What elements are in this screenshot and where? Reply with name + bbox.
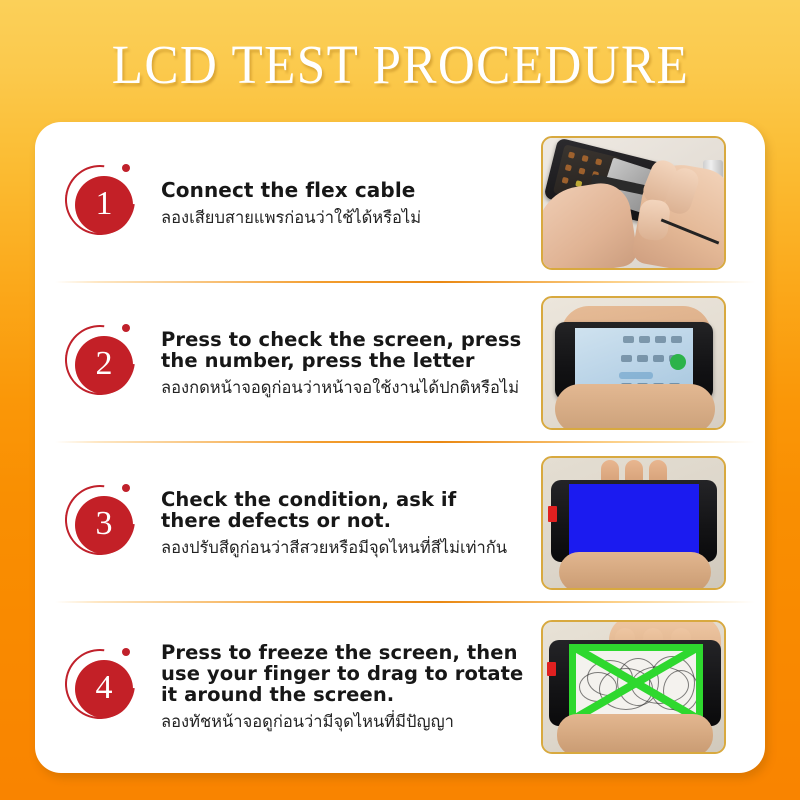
- poster-root: LCD TEST PROCEDURE 1 Connect the flex ca…: [0, 0, 800, 800]
- step-text-3: Check the condition, ask if there defect…: [161, 489, 541, 558]
- step-thai-2: ลองกดหน้าจอดูก่อนว่าหน้าจอใช้งานได้ปกติห…: [161, 377, 533, 398]
- badge-dot-icon: [122, 648, 130, 656]
- badge-circle: 2: [75, 336, 133, 394]
- badge-dot-icon: [122, 484, 130, 492]
- step-badge-2: 2: [63, 321, 147, 405]
- photo-flex-cable-connect: [541, 136, 726, 270]
- page-title: LCD TEST PROCEDURE: [111, 34, 688, 96]
- step-number-2: 2: [96, 347, 113, 383]
- step-number-3: 3: [96, 507, 113, 543]
- step-row-3: 3 Check the condition, ask if there defe…: [35, 443, 765, 603]
- step-heading-1: Connect the flex cable: [161, 179, 533, 201]
- title-bar: LCD TEST PROCEDURE: [0, 30, 800, 100]
- step-heading-2: Press to check the screen, press the num…: [161, 329, 533, 371]
- step-badge-4: 4: [63, 645, 147, 729]
- badge-dot-icon: [122, 324, 130, 332]
- step-heading-3: Check the condition, ask if there defect…: [161, 489, 533, 531]
- badge-circle: 4: [75, 660, 133, 718]
- step-thai-3: ลองปรับสีดูก่อนว่าสีสวยหรือมีจุดไหนที่สี…: [161, 537, 533, 558]
- step-text-4: Press to freeze the screen, then use you…: [161, 642, 541, 732]
- steps-card: 1 Connect the flex cable ลองเสียบสายแพรก…: [35, 122, 765, 773]
- photo-blue-screen-color-test: [541, 456, 726, 590]
- photo-touch-drag-test: [541, 620, 726, 754]
- step-number-1: 1: [96, 187, 113, 223]
- step-row-1: 1 Connect the flex cable ลองเสียบสายแพรก…: [35, 123, 765, 283]
- step-thai-1: ลองเสียบสายแพรก่อนว่าใช้ได้หรือไม่: [161, 207, 533, 228]
- step-thai-4: ลองทัชหน้าจอดูก่อนว่ามีจุดไหนที่มีปัญญา: [161, 711, 533, 732]
- badge-dot-icon: [122, 164, 130, 172]
- step-text-2: Press to check the screen, press the num…: [161, 329, 541, 398]
- step-badge-3: 3: [63, 481, 147, 565]
- step-badge-1: 1: [63, 161, 147, 245]
- step-row-4: 4 Press to freeze the screen, then use y…: [35, 603, 765, 771]
- step-number-4: 4: [96, 671, 113, 707]
- step-row-2: 2 Press to check the screen, press the n…: [35, 283, 765, 443]
- photo-dialer-keypad-test: [541, 296, 726, 430]
- step-heading-4: Press to freeze the screen, then use you…: [161, 642, 533, 705]
- badge-circle: 3: [75, 496, 133, 554]
- step-text-1: Connect the flex cable ลองเสียบสายแพรก่อ…: [161, 179, 541, 228]
- badge-circle: 1: [75, 176, 133, 234]
